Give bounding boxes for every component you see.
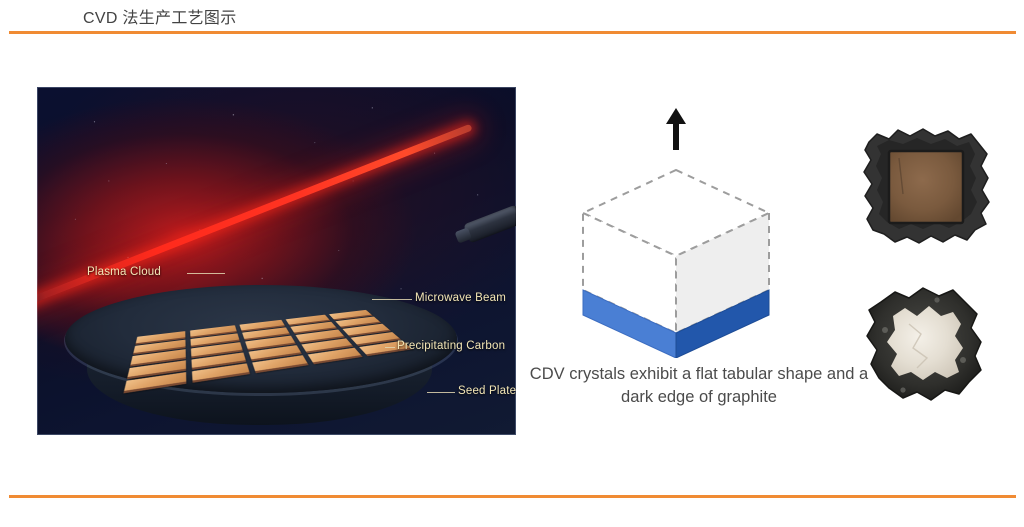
cube-svg <box>545 108 805 358</box>
leader-line-microwave-beam <box>372 299 412 300</box>
callout-plasma-cloud: Plasma Cloud <box>87 266 161 278</box>
cvd-reactor-illustration: Plasma Cloud Microwave Beam Precipitatin… <box>37 87 516 435</box>
cube-caption: CDV crystals exhibit a flat tabular shap… <box>529 363 869 409</box>
callout-microwave-beam: Microwave Beam <box>415 292 506 304</box>
growth-arrow-icon <box>666 108 686 150</box>
tabular-crystal-svg <box>853 120 999 253</box>
page-title: CVD 法生产工艺图示 <box>83 4 237 28</box>
crystal-growth-cube <box>545 108 805 358</box>
callout-seed-plates: Seed Plates <box>458 385 516 397</box>
seed-plate-array <box>124 310 411 391</box>
header-divider-top <box>9 31 1016 34</box>
pedestal-disc <box>65 285 457 393</box>
callout-precipitating-carbon: Precipitating Carbon <box>397 340 505 352</box>
crystal-photo-rough <box>851 272 999 420</box>
leader-line-seed-plates <box>427 392 455 393</box>
leader-line-precipitating-carbon <box>385 347 395 348</box>
crystal-photo-tabular <box>853 120 999 253</box>
reactor-pedestal <box>57 277 475 427</box>
leader-line-plasma-cloud <box>187 273 225 274</box>
rough-crystal-svg <box>851 272 999 420</box>
footer-divider-bottom <box>9 495 1016 498</box>
